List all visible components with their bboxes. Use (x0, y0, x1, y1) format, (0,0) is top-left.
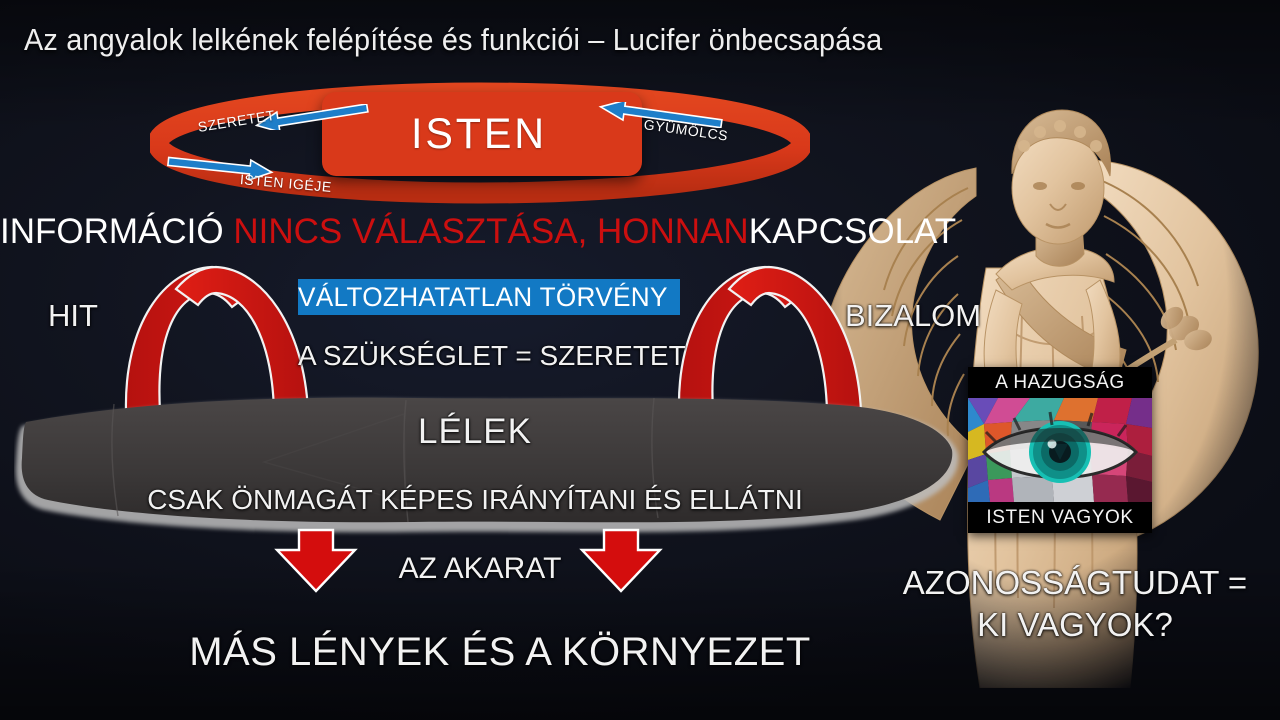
identity-line-2: KI VAGYOK? (880, 604, 1270, 646)
soul-subtitle: CSAK ÖNMAGÁT KÉPES IRÁNYÍTANI ÉS ELLÁTNI (0, 484, 950, 516)
soul-title: LÉLEK (0, 412, 950, 452)
polygonal-eye-image (968, 398, 1152, 502)
label-bizalom: BIZALOM (845, 298, 981, 334)
lie-card-caption-top: A HAZUGSÁG (968, 367, 1152, 398)
page-title: Az angyalok lelkének felépítése és funkc… (24, 22, 882, 58)
trust-arch-shape (665, 255, 880, 415)
info-line: INFORMÁCIÓ NINCS VÁLASZTÁSA, HONNANKAPCS… (0, 212, 870, 252)
slide-canvas: Az angyalok lelkének felépítése és funkc… (0, 0, 1280, 720)
law-banner: VÁLTOZHATATLAN TÖRVÉNY (298, 279, 680, 315)
identity-text: AZONOSSÁGTUDAT = KI VAGYOK? (880, 562, 1270, 646)
label-hit: HIT (48, 298, 98, 334)
label-az-akarat: AZ AKARAT (360, 552, 600, 586)
law-banner-label: VÁLTOZHATATLAN TÖRVÉNY (298, 282, 668, 313)
info-line-part3: KAPCSOLAT (749, 212, 956, 251)
identity-line-1: AZONOSSÁGTUDAT = (880, 562, 1270, 604)
god-cycle-diagram: ISTEN SZERETET GYÜMÖLCS ISTEN IGÉJE (150, 82, 810, 204)
lie-card-caption-bottom: ISTEN VAGYOK (968, 502, 1152, 533)
arrow-down-icon (273, 528, 359, 594)
info-line-part1: INFORMÁCIÓ (0, 212, 233, 251)
law-subtitle: A SZÜKSÉGLET = SZERETET (298, 340, 680, 372)
faith-arch-shape (112, 255, 327, 415)
lie-card: A HAZUGSÁG (968, 367, 1152, 533)
isten-label: ISTEN (411, 110, 547, 159)
info-line-part2: NINCS VÁLASZTÁSA, HONNAN (233, 212, 748, 251)
bottom-line: MÁS LÉNYEK ÉS A KÖRNYEZET (0, 630, 1000, 675)
